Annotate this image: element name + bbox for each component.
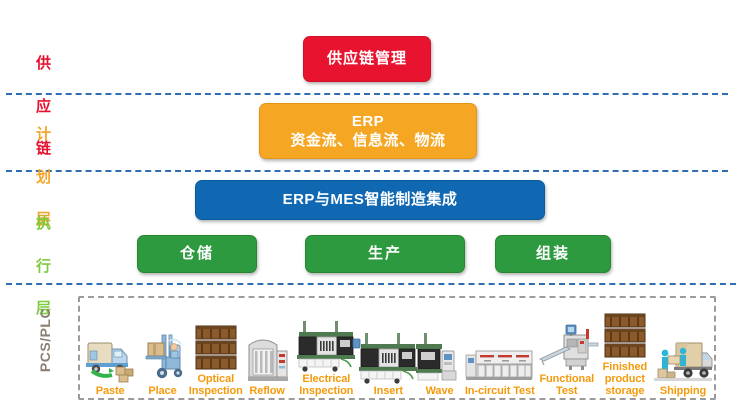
crate-stack-icon — [599, 303, 651, 361]
erp-box[interactable]: ERP 资金流、信息流、物流 — [259, 103, 477, 159]
station-art — [291, 311, 361, 373]
supply-chain-management-label: 供应链管理 — [327, 49, 407, 68]
divider-supply-plan — [6, 93, 728, 95]
erp-mes-integration-box[interactable]: ERP与MES智能制造集成 — [195, 180, 545, 220]
module-label: 组装 — [536, 244, 570, 263]
station-paste[interactable]: Paste — [84, 300, 136, 398]
module-label: 生产 — [368, 244, 402, 263]
band-char: 计 — [18, 124, 70, 145]
station-electrical-inspection[interactable]: Electrical Inspection — [291, 300, 361, 398]
wave-solder-icon — [416, 327, 464, 385]
station-shipping[interactable]: Shipping — [652, 300, 714, 398]
station-caption: Shipping — [652, 385, 714, 398]
reflow-oven-icon — [243, 327, 291, 385]
smt-machine-icon — [291, 315, 361, 373]
station-caption: In-circuit Test — [464, 385, 536, 398]
station-caption: Functional Test — [536, 373, 598, 398]
station-wave[interactable]: Wave — [415, 300, 463, 398]
erp-title-label: ERP — [352, 112, 384, 131]
station-insert[interactable]: Insert — [361, 300, 415, 398]
module-label: 仓储 — [180, 244, 214, 263]
band-char: 供 — [18, 53, 70, 74]
station-art — [84, 323, 136, 385]
station-art — [598, 300, 652, 361]
station-optical-inspection[interactable]: Optical Inspection — [189, 300, 243, 398]
forklift-icon — [136, 327, 188, 385]
station-in-circuit-test[interactable]: In-circuit Test — [464, 300, 536, 398]
station-art — [415, 323, 463, 385]
band-label-pcs-plc-text: PCS/PLC — [37, 308, 53, 372]
station-art — [243, 323, 291, 385]
station-art — [189, 311, 243, 373]
band-char: 执 — [18, 213, 70, 234]
crate-stack-icon — [190, 315, 242, 373]
band-char: 行 — [18, 256, 70, 277]
smt-machine-icon — [353, 327, 423, 385]
module-box-warehousing[interactable]: 仓储 — [137, 235, 257, 273]
production-line-zone: Paste — [78, 296, 716, 400]
divider-exec-pcs — [6, 283, 736, 285]
station-caption: Reflow — [243, 385, 291, 398]
module-box-production[interactable]: 生产 — [305, 235, 465, 273]
band-char: 划 — [18, 167, 70, 188]
production-line-strip: Paste — [84, 300, 714, 398]
station-caption: Optical Inspection — [189, 373, 243, 398]
station-functional-test[interactable]: Functional Test — [536, 300, 598, 398]
supply-chain-management-box[interactable]: 供应链管理 — [303, 36, 431, 82]
station-art — [652, 323, 714, 385]
module-box-assembly[interactable]: 组装 — [495, 235, 611, 273]
shipping-truck-icon — [652, 327, 714, 385]
architecture-diagram: 供 应 链 计 划 层 执 行 层 PCS/PLC 供应链管理 ERP 资金流、… — [0, 0, 740, 417]
band-label-pcs-plc: PCS/PLC — [10, 300, 80, 380]
station-caption: Electrical Inspection — [291, 373, 361, 398]
station-art — [536, 311, 598, 373]
test-rack-icon — [464, 327, 536, 385]
divider-plan-exec — [6, 170, 728, 172]
station-caption: Paste — [84, 385, 136, 398]
station-finished-storage[interactable]: Finished product storage — [598, 300, 652, 398]
station-art — [361, 323, 415, 385]
station-reflow[interactable]: Reflow — [243, 300, 291, 398]
delivery-truck-icon — [84, 327, 136, 385]
station-caption: Finished product storage — [598, 361, 652, 398]
conveyor-tester-icon — [536, 315, 598, 373]
station-art — [464, 323, 536, 385]
station-place[interactable]: Place — [136, 300, 188, 398]
station-art — [136, 323, 188, 385]
erp-subtitle-label: 资金流、信息流、物流 — [290, 131, 445, 150]
erp-mes-integration-label: ERP与MES智能制造集成 — [283, 190, 458, 209]
station-caption: Place — [136, 385, 188, 398]
station-caption: Wave — [415, 385, 463, 398]
station-caption: Insert — [361, 385, 415, 398]
